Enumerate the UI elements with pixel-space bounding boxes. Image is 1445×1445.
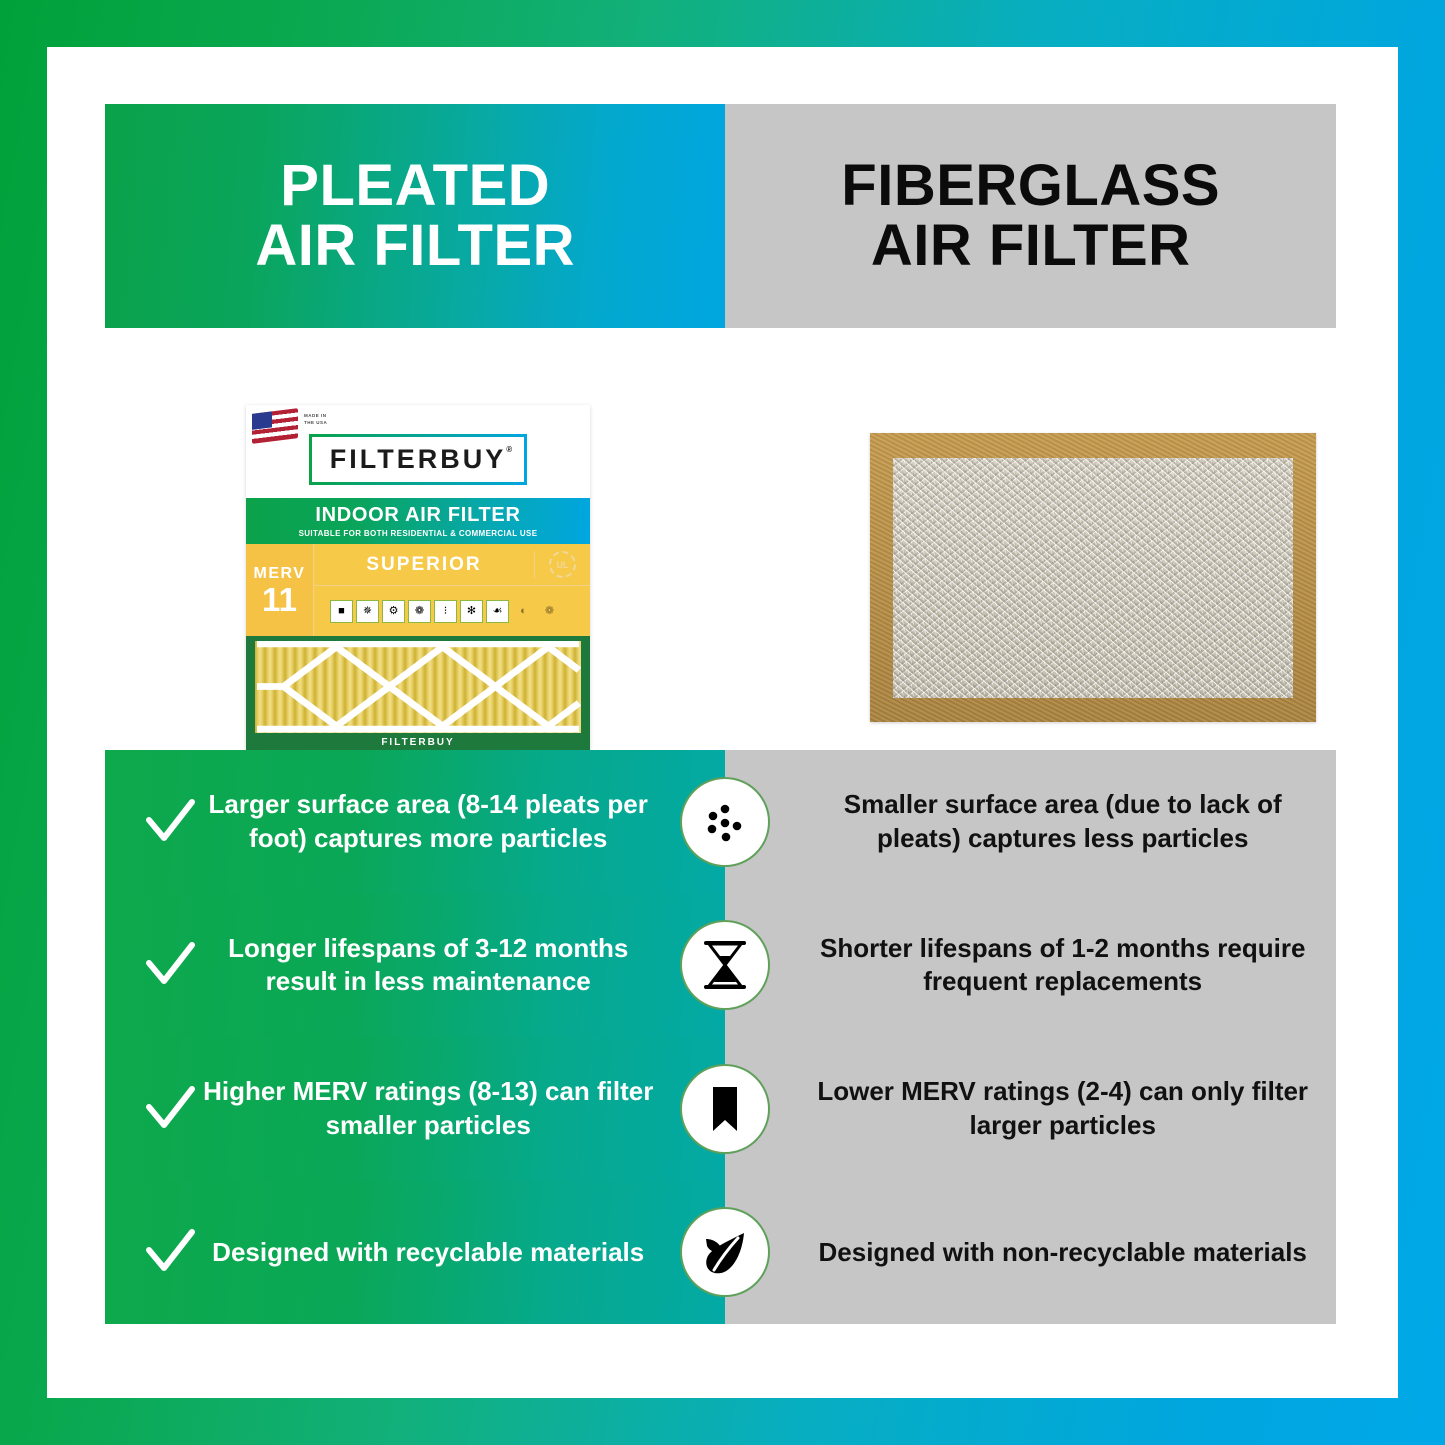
row-right-text: Shorter lifespans of 1-2 months require … [815, 932, 1310, 999]
made-in-usa-label: MADE IN THE USA [304, 413, 327, 427]
header-fiberglass-title: FIBERGLASS AIR FILTER [841, 156, 1220, 275]
made-in-line1: MADE IN [304, 413, 327, 420]
checkmark-icon [139, 1083, 201, 1135]
merv-value: 11 [262, 583, 297, 616]
odor-icon: ◐ [512, 600, 535, 623]
row-right-text: Smaller surface area (due to lack of ple… [815, 788, 1310, 855]
dust-icon: ■ [330, 600, 353, 623]
fiberglass-filter-photo [870, 433, 1316, 722]
pleated-filter-media: FILTERBUY [246, 636, 590, 750]
made-in-line2: THE USA [304, 420, 327, 427]
row-left-text: Longer lifespans of 3-12 months result i… [201, 932, 655, 999]
band-subtitle: SUITABLE FOR BOTH RESIDENTIAL & COMMERCI… [299, 529, 538, 538]
header-fiberglass: FIBERGLASS AIR FILTER [725, 104, 1336, 328]
pet-dander-icon: ✻ [460, 600, 483, 623]
ul-seal-icon: UL [549, 551, 576, 578]
mold-icon: ❁ [408, 600, 431, 623]
virus-icon: ❁ [538, 600, 561, 623]
indoor-air-filter-band: INDOOR AIR FILTER SUITABLE FOR BOTH RESI… [246, 498, 590, 544]
row-right-fiberglass: Lower MERV ratings (2-4) can only filter… [725, 1037, 1336, 1181]
row-left-text: Designed with recyclable materials [201, 1236, 655, 1269]
bookmark-icon [680, 1064, 770, 1154]
fiberglass-mesh [893, 458, 1293, 698]
product-images-row: MADE IN THE USA FILTERBUY® INDOOR AIR FI… [105, 328, 1336, 738]
usa-flag-icon [252, 408, 298, 444]
diamond-support-grid [255, 641, 581, 733]
band-title: INDOOR AIR FILTER [315, 504, 520, 527]
certification-seal: UL [534, 551, 590, 578]
merv-badge: MERV 11 [246, 544, 314, 636]
row-left-pleated: Longer lifespans of 3-12 months result i… [105, 894, 725, 1038]
row-right-text: Lower MERV ratings (2-4) can only filter… [815, 1075, 1310, 1142]
comparison-row: Higher MERV ratings (8-13) can filter sm… [105, 1037, 1336, 1181]
tier-label: SUPERIOR [314, 554, 534, 576]
comparison-rows: Larger surface area (8-14 pleats per foo… [105, 750, 1336, 1324]
row-left-pleated: Larger surface area (8-14 pleats per foo… [105, 750, 725, 894]
header-fiberglass-line2: AIR FILTER [871, 213, 1191, 278]
merv-info-section: MERV 11 SUPERIOR UL ■ ✵ ⚙ [246, 544, 590, 636]
particles-dots-icon [680, 777, 770, 867]
filterbuy-box-top: MADE IN THE USA FILTERBUY® [246, 405, 590, 498]
merv-details: SUPERIOR UL ■ ✵ ⚙ ❁ ⁝ ✻ ☙ [314, 544, 590, 636]
hourglass-icon [680, 920, 770, 1010]
row-right-fiberglass: Shorter lifespans of 1-2 months require … [725, 894, 1336, 1038]
filterbuy-product-box: MADE IN THE USA FILTERBUY® INDOOR AIR FI… [246, 405, 590, 750]
gradient-frame: PLEATED AIR FILTER FIBERGLASS AIR FILTER… [0, 0, 1445, 1445]
header-pleated-line2: AIR FILTER [255, 213, 575, 278]
filterbuy-logo: FILTERBUY® [312, 437, 525, 482]
filtration-icon-strip: ■ ✵ ⚙ ❁ ⁝ ✻ ☙ ◐ ❁ [314, 586, 590, 636]
smoke-icon: ☙ [486, 600, 509, 623]
tier-row: SUPERIOR UL [314, 544, 590, 586]
row-left-text: Higher MERV ratings (8-13) can filter sm… [201, 1075, 655, 1142]
pollen-icon: ⚙ [382, 600, 405, 623]
filterbuy-logo-frame: FILTERBUY® [309, 434, 528, 485]
row-left-text: Larger surface area (8-14 pleats per foo… [201, 788, 655, 855]
pleat-texture [255, 641, 581, 733]
infographic-canvas: PLEATED AIR FILTER FIBERGLASS AIR FILTER… [47, 47, 1398, 1398]
header-pleated-title: PLEATED AIR FILTER [255, 156, 575, 275]
row-right-fiberglass: Smaller surface area (due to lack of ple… [725, 750, 1336, 894]
comparison-row: Larger surface area (8-14 pleats per foo… [105, 750, 1336, 894]
row-right-fiberglass: Designed with non-recyclable materials [725, 1181, 1336, 1325]
row-left-pleated: Designed with recyclable materials [105, 1181, 725, 1325]
bacteria-icon: ✵ [356, 600, 379, 623]
header-row: PLEATED AIR FILTER FIBERGLASS AIR FILTER [105, 104, 1336, 328]
header-fiberglass-line1: FIBERGLASS [841, 153, 1220, 218]
comparison-row: Longer lifespans of 3-12 months result i… [105, 894, 1336, 1038]
leaf-icon [680, 1207, 770, 1297]
checkmark-icon [139, 939, 201, 991]
particles-icon: ⁝ [434, 600, 457, 623]
row-right-text: Designed with non-recyclable materials [815, 1236, 1310, 1269]
checkmark-icon [139, 796, 201, 848]
header-pleated: PLEATED AIR FILTER [105, 104, 725, 328]
comparison-row: Designed with recyclable materials Desig… [105, 1181, 1336, 1325]
row-left-pleated: Higher MERV ratings (8-13) can filter sm… [105, 1037, 725, 1181]
checkmark-icon [139, 1226, 201, 1278]
header-pleated-line1: PLEATED [280, 153, 550, 218]
merv-label: MERV [254, 565, 306, 583]
filter-footer-brand: FILTERBUY [246, 737, 590, 748]
